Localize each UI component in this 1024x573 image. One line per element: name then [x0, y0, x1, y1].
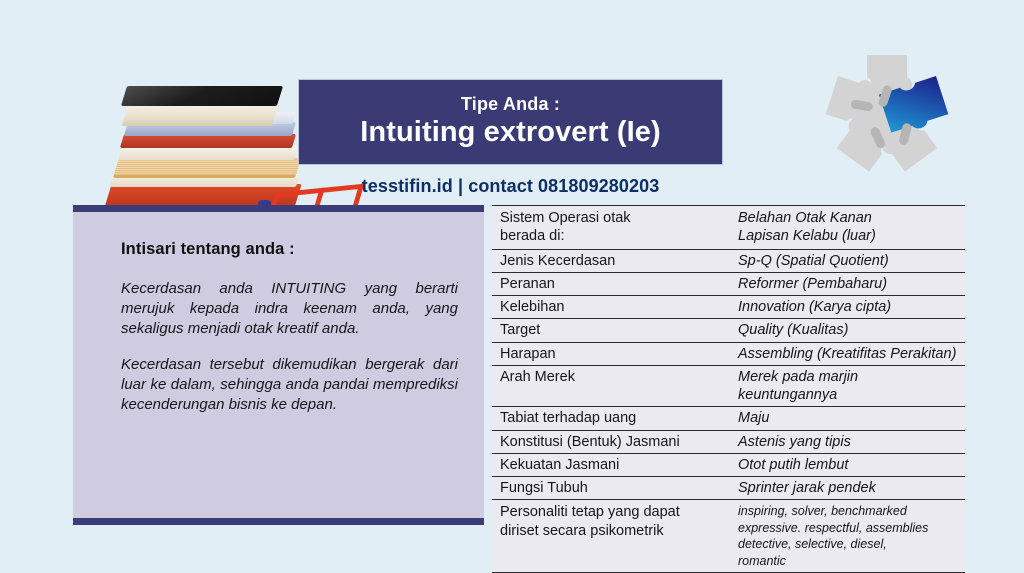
- attribute-key-line: Tabiat terhadap uang: [500, 409, 724, 427]
- attribute-key: Konstitusi (Bentuk) Jasmani: [492, 430, 728, 453]
- table-row: Arah MerekMerek pada marjin keuntunganny…: [492, 365, 965, 407]
- attribute-value-line: Sp-Q (Spatial Quotient): [738, 252, 961, 270]
- attribute-value-line: romantic: [738, 553, 961, 570]
- attribute-value-line: Merek pada marjin keuntungannya: [738, 368, 961, 405]
- table-row: Sistem Operasi otakberada di:Belahan Ota…: [492, 206, 965, 250]
- attribute-key-line: Jenis Kecerdasan: [500, 252, 724, 270]
- attribute-key-line: Target: [500, 321, 724, 339]
- attribute-key-line: Kekuatan Jasmani: [500, 456, 724, 474]
- attributes-table: Sistem Operasi otakberada di:Belahan Ota…: [492, 205, 965, 573]
- summary-heading: Intisari tentang anda :: [121, 240, 458, 259]
- attribute-key-line: diriset secara psikometrik: [500, 522, 724, 540]
- attribute-value-line: expressive. respectful, assemblies: [738, 520, 961, 537]
- summary-paragraph-2: Kecerdasan tersebut dikemudikan bergerak…: [121, 355, 458, 415]
- attribute-key: Kelebihan: [492, 296, 728, 319]
- table-row: PerananReformer (Pembaharu): [492, 272, 965, 295]
- poster-canvas: Tipe Anda : Intuiting extrovert (Ie) tes…: [0, 0, 1024, 559]
- book-page-edges: [114, 161, 300, 175]
- attribute-key-line: Sistem Operasi otak: [500, 209, 724, 227]
- attribute-key: Tabiat terhadap uang: [492, 407, 728, 430]
- attribute-value: Innovation (Karya cipta): [728, 296, 965, 319]
- attribute-key-line: Konstitusi (Bentuk) Jasmani: [500, 433, 724, 451]
- attribute-key-line: Peranan: [500, 275, 724, 293]
- attribute-value: Reformer (Pembaharu): [728, 272, 965, 295]
- attribute-key: Harapan: [492, 342, 728, 365]
- banner-eyebrow: Tipe Anda :: [461, 95, 560, 115]
- attribute-value-line: Innovation (Karya cipta): [738, 298, 961, 316]
- type-banner: Tipe Anda : Intuiting extrovert (Ie): [298, 79, 723, 165]
- attribute-value-line: Lapisan Kelabu (luar): [738, 227, 961, 245]
- summary-panel: Intisari tentang anda : Kecerdasan anda …: [73, 205, 484, 525]
- table-row: KelebihanInnovation (Karya cipta): [492, 296, 965, 319]
- table-row: Tabiat terhadap uangMaju: [492, 407, 965, 430]
- table-row: Jenis KecerdasanSp-Q (Spatial Quotient): [492, 249, 965, 272]
- attribute-value-line: Sprinter jarak pendek: [738, 479, 961, 497]
- attribute-value-line: Quality (Kualitas): [738, 321, 961, 339]
- puzzle-illustration: [815, 45, 985, 190]
- book-black-cover: [121, 86, 283, 106]
- attribute-value-line: detective, selective, diesel,: [738, 536, 961, 553]
- table-row: TargetQuality (Kualitas): [492, 319, 965, 342]
- summary-paragraph-1: Kecerdasan anda INTUITING yang berarti m…: [121, 279, 458, 339]
- table-row: Personaliti tetap yang dapatdiriset seca…: [492, 500, 965, 573]
- banner-title: Intuiting extrovert (Ie): [360, 116, 660, 149]
- attribute-key-line: Arah Merek: [500, 368, 724, 386]
- attribute-value: Belahan Otak KananLapisan Kelabu (luar): [728, 206, 965, 250]
- attribute-key-line: berada di:: [500, 227, 724, 245]
- attribute-value-line: Maju: [738, 409, 961, 427]
- attribute-value-line: inspiring, solver, benchmarked: [738, 503, 961, 520]
- attribute-value: Quality (Kualitas): [728, 319, 965, 342]
- attribute-value: inspiring, solver, benchmarkedexpressive…: [728, 500, 965, 573]
- attribute-key: Jenis Kecerdasan: [492, 249, 728, 272]
- attribute-value-line: Assembling (Kreatifitas Perakitan): [738, 345, 961, 363]
- attribute-key: Fungsi Tubuh: [492, 477, 728, 500]
- attribute-key: Peranan: [492, 272, 728, 295]
- attribute-key: Target: [492, 319, 728, 342]
- table-row: HarapanAssembling (Kreatifitas Perakitan…: [492, 342, 965, 365]
- attribute-value: Merek pada marjin keuntungannya: [728, 365, 965, 407]
- attribute-value: Sp-Q (Spatial Quotient): [728, 249, 965, 272]
- attribute-value-line: Otot putih lembut: [738, 456, 961, 474]
- attribute-key-line: Fungsi Tubuh: [500, 479, 724, 497]
- attribute-key: Sistem Operasi otakberada di:: [492, 206, 728, 250]
- attribute-key: Kekuatan Jasmani: [492, 453, 728, 476]
- puzzle-svg: [815, 45, 985, 190]
- attribute-key-line: Harapan: [500, 345, 724, 363]
- attribute-key-line: Kelebihan: [500, 298, 724, 316]
- contact-line: tesstifin.id | contact 081809280203: [298, 176, 723, 197]
- attribute-value: Maju: [728, 407, 965, 430]
- table-row: Konstitusi (Bentuk) JasmaniAstenis yang …: [492, 430, 965, 453]
- book-red-2: [120, 134, 296, 148]
- attribute-key-line: Personaliti tetap yang dapat: [500, 503, 724, 521]
- table-row: Fungsi TubuhSprinter jarak pendek: [492, 477, 965, 500]
- book-tan: [113, 158, 301, 178]
- attribute-value: Astenis yang tipis: [728, 430, 965, 453]
- attribute-value-line: Reformer (Pembaharu): [738, 275, 961, 293]
- attribute-key: Personaliti tetap yang dapatdiriset seca…: [492, 500, 728, 573]
- table-row: Kekuatan JasmaniOtot putih lembut: [492, 453, 965, 476]
- attribute-value: Sprinter jarak pendek: [728, 477, 965, 500]
- book-pages-3: [118, 146, 298, 160]
- attribute-key: Arah Merek: [492, 365, 728, 407]
- attribute-value-line: Belahan Otak Kanan: [738, 209, 961, 227]
- attribute-value-line: Astenis yang tipis: [738, 433, 961, 451]
- attribute-value: Assembling (Kreatifitas Perakitan): [728, 342, 965, 365]
- attribute-value: Otot putih lembut: [728, 453, 965, 476]
- attributes-table-body: Sistem Operasi otakberada di:Belahan Ota…: [492, 206, 965, 573]
